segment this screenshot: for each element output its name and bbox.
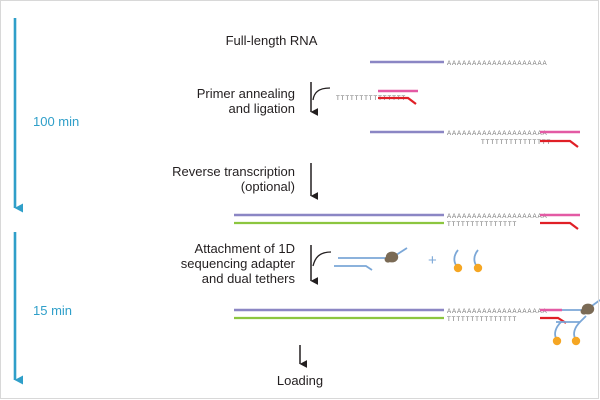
polyA-tail-text: AAAAAAAAAAAAAAAAAAAA — [447, 130, 548, 137]
construct-ligated: AAAAAAAAAAAAAAAAAAAA TTTTTTTTTTTTTTT — [370, 130, 580, 147]
construct-full-length-rna: AAAAAAAAAAAAAAAAAAAA — [370, 60, 548, 67]
tether-anchor-icon — [474, 264, 482, 272]
adapter-bottom-strand — [540, 223, 578, 229]
polyA-tail-text: AAAAAAAAAAAAAAAAAAAA — [447, 213, 548, 220]
reagent-sequencing-adapter — [334, 248, 407, 270]
tether-strand — [454, 250, 458, 265]
tether-strand — [474, 250, 478, 265]
reagent-tether-1 — [454, 250, 462, 272]
reagent-tether-2 — [474, 250, 482, 272]
motor-protein-icon — [581, 308, 588, 314]
tether-anchor-icon — [572, 337, 580, 345]
attached-tether-1 — [553, 322, 561, 345]
motor-protein-icon — [385, 256, 392, 262]
polyA-tail-text: AAAAAAAAAAAAAAAAAAAA — [447, 60, 548, 67]
attached-tether-2 — [572, 322, 580, 345]
polyT-primer-text: TTTTTTTTTTTTTTT — [447, 221, 517, 228]
molecule-diagram: AAAAAAAAAAAAAAAAAAAA TTTTTTTTTTTTTTT AAA… — [0, 0, 600, 400]
polyA-tail-text: AAAAAAAAAAAAAAAAAAAA — [447, 308, 548, 315]
arrow-primer-annealing — [311, 82, 330, 112]
adapter-lower-strand — [334, 266, 372, 270]
reagent-primer-adapter: TTTTTTTTTTTTTTT — [336, 91, 418, 104]
plus-sign: + — [428, 252, 437, 269]
construct-reverse-transcribed: AAAAAAAAAAAAAAAAAAAA TTTTTTTTTTTTTTT — [234, 213, 580, 229]
arrow-adapter-attachment — [311, 245, 331, 281]
construct-final-library: AAAAAAAAAAAAAAAAAAAA TTTTTTTTTTTTTTT — [234, 300, 600, 345]
tether-strand — [555, 322, 561, 338]
tether-strand — [574, 322, 580, 338]
tether-anchor-icon — [454, 264, 462, 272]
polyT-primer-text: TTTTTTTTTTTTTTT — [447, 316, 517, 323]
figure-canvas: 100 min 15 min Full-length RNA Primer an… — [0, 0, 600, 400]
tether-anchor-icon — [553, 337, 561, 345]
